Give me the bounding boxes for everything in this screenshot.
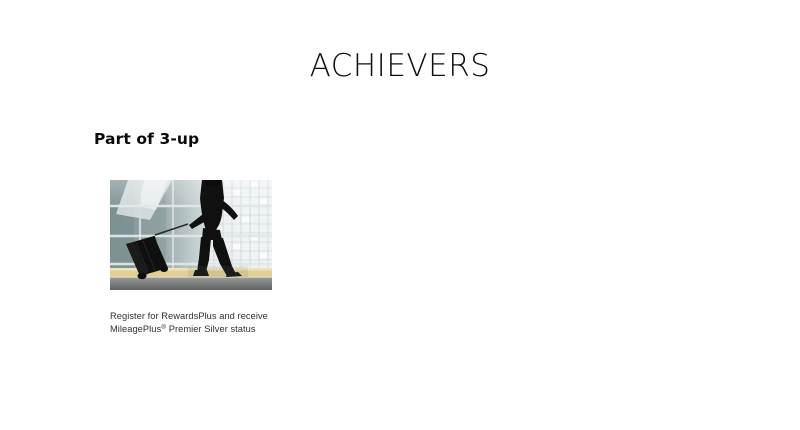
slide-canvas: ACHIEVERS Part of 3-up <box>0 0 800 430</box>
caption-line-1: Register for RewardsPlus and <box>110 311 235 321</box>
section-label: Part of 3-up <box>94 129 199 149</box>
offer-card: Register for RewardsPlus and receive Mil… <box>110 180 272 335</box>
caption-line-2-b: Premier <box>166 324 202 334</box>
caption-line-3: Silver status <box>204 324 255 334</box>
card-caption: Register for RewardsPlus and receive Mil… <box>110 310 274 335</box>
page-title: ACHIEVERS <box>0 48 800 84</box>
airport-traveler-photo <box>110 180 272 290</box>
